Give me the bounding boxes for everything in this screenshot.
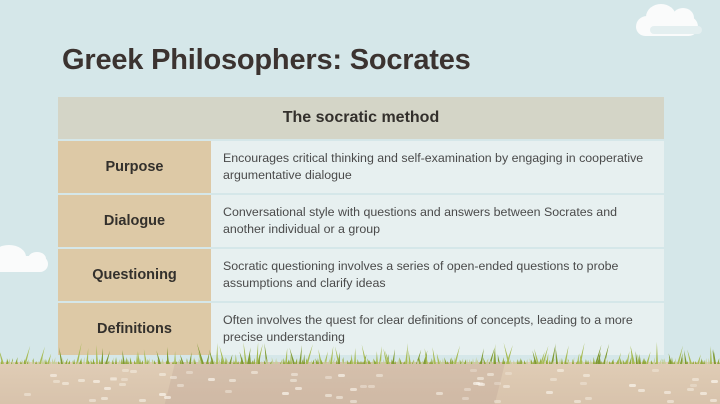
grass-blade xyxy=(194,359,196,364)
ground-pebble xyxy=(710,399,717,402)
ground-pebble xyxy=(462,397,469,400)
grass-blade xyxy=(446,361,449,364)
grass-blade xyxy=(567,358,571,364)
row-description: Encourages critical thinking and self-ex… xyxy=(211,141,664,193)
grass-blade xyxy=(168,361,170,364)
ground-pebble xyxy=(360,385,367,388)
ground-pebble xyxy=(164,396,171,399)
grass-blade xyxy=(472,358,474,364)
ground-pebble xyxy=(505,372,512,375)
grass-blade xyxy=(656,342,658,364)
grass-blade xyxy=(28,359,30,364)
grass-blade xyxy=(11,360,14,364)
ground-pebble xyxy=(664,391,671,394)
ground-pebble xyxy=(53,380,60,383)
ground-pebble xyxy=(690,384,697,387)
grass-blade xyxy=(96,345,99,364)
grass-blade xyxy=(612,359,614,364)
ground-pebble xyxy=(291,373,298,376)
ground-pebble xyxy=(494,400,501,403)
ground-pebble xyxy=(550,378,557,381)
row-label: Questioning xyxy=(58,249,211,301)
ground-pebble xyxy=(436,392,443,395)
ground-pebble xyxy=(89,399,96,402)
ground-pebble xyxy=(574,400,581,403)
ground-pebble xyxy=(251,371,258,374)
page-title: Greek Philosophers: Socrates xyxy=(62,44,471,77)
ground-pebble xyxy=(503,385,510,388)
grass-blade xyxy=(266,358,268,364)
grass-blade xyxy=(161,358,164,364)
ground-pebble xyxy=(470,369,477,372)
ground-pebble xyxy=(177,384,184,387)
ground-pebble xyxy=(121,378,128,381)
ground-pebble xyxy=(159,393,166,396)
grass-blade xyxy=(49,361,51,364)
grass-blade xyxy=(115,357,117,364)
grass-blade xyxy=(509,358,512,364)
row-description: Socratic questioning involves a series o… xyxy=(211,249,664,301)
cloud-icon-left xyxy=(0,256,48,272)
ground-pebble xyxy=(473,382,480,385)
ground-pebble xyxy=(687,388,694,391)
socratic-method-table: The socratic method Purpose Encourages c… xyxy=(58,97,664,355)
slide-canvas: Greek Philosophers: Socrates The socrati… xyxy=(0,0,720,404)
table-row: Purpose Encourages critical thinking and… xyxy=(58,141,664,193)
table-header: The socratic method xyxy=(58,97,664,139)
grass-blade xyxy=(186,361,188,364)
ground-pebble xyxy=(159,373,166,376)
ground-pebble xyxy=(93,380,100,383)
grass-blade xyxy=(376,351,378,364)
ground-pebble xyxy=(652,369,659,372)
ground-pebble xyxy=(325,394,332,397)
grass-blade xyxy=(587,360,589,364)
ground-pebble xyxy=(638,389,645,392)
ground-pebble xyxy=(700,392,707,395)
ground-pebble xyxy=(477,377,484,380)
ground-pebble xyxy=(170,376,177,379)
table-row: Dialogue Conversational style with quest… xyxy=(58,195,664,247)
ground-pebble xyxy=(208,378,215,381)
grass-blade xyxy=(276,361,278,364)
ground-pebble xyxy=(667,400,674,403)
ground-pebble xyxy=(119,383,126,386)
grass-blade xyxy=(153,360,156,364)
ground-pebble xyxy=(229,379,236,382)
grass-blade xyxy=(129,357,132,364)
ground-pebble xyxy=(50,374,57,377)
ground-pebble xyxy=(494,382,501,385)
ground-pebble xyxy=(325,376,332,379)
ground-pebble xyxy=(122,369,129,372)
ground-pebble xyxy=(110,378,117,381)
grass-blade xyxy=(73,359,75,364)
ground-pebble xyxy=(139,399,146,402)
row-label: Purpose xyxy=(58,141,211,193)
ground-pebble xyxy=(186,371,193,374)
grass-blade xyxy=(555,346,559,364)
ground-pebble xyxy=(580,382,587,385)
row-label: Dialogue xyxy=(58,195,211,247)
ground-pebble xyxy=(376,374,383,377)
ground-pebble xyxy=(104,387,111,390)
ground-pebble xyxy=(585,397,592,400)
row-description: Conversational style with questions and … xyxy=(211,195,664,247)
ground-pebble xyxy=(101,397,108,400)
grass-blade xyxy=(0,348,4,364)
ground-pebble xyxy=(350,400,357,403)
ground-pebble xyxy=(487,373,494,376)
ground-pebble xyxy=(130,370,137,373)
ground-pebble xyxy=(336,396,343,399)
grass-blade xyxy=(320,359,323,364)
ground-pebble xyxy=(557,369,564,372)
grass-blade xyxy=(663,358,666,364)
grass-blade xyxy=(638,354,640,364)
ground-pebble xyxy=(225,390,232,393)
ground-shadow xyxy=(165,362,505,404)
ground-pebble xyxy=(711,380,718,383)
grass-blade xyxy=(368,360,371,364)
ground-pebble xyxy=(546,391,553,394)
grass-blade xyxy=(399,357,403,364)
grass-blade xyxy=(498,361,501,364)
ground-pebble xyxy=(692,378,699,381)
grass-blade xyxy=(413,359,415,364)
cloud-shadow-top-right xyxy=(650,26,702,34)
ground-pebble xyxy=(338,374,345,377)
ground-pebble xyxy=(62,382,69,385)
ground-pebble xyxy=(282,392,289,395)
ground-pebble xyxy=(350,388,357,391)
ground-pebble xyxy=(24,393,31,396)
ground-pebble xyxy=(583,374,590,377)
ground-pebble xyxy=(295,387,302,390)
grass-blade xyxy=(581,360,584,364)
ground-pebble xyxy=(464,388,471,391)
grass-blade xyxy=(92,358,95,364)
grass-blade xyxy=(16,361,18,364)
ground-pebble xyxy=(629,384,636,387)
ground-pebble xyxy=(78,379,85,382)
table-row: Questioning Socratic questioning involve… xyxy=(58,249,664,301)
grass-blade xyxy=(112,360,114,364)
ground-strip xyxy=(0,362,720,404)
grass-band xyxy=(0,340,720,364)
